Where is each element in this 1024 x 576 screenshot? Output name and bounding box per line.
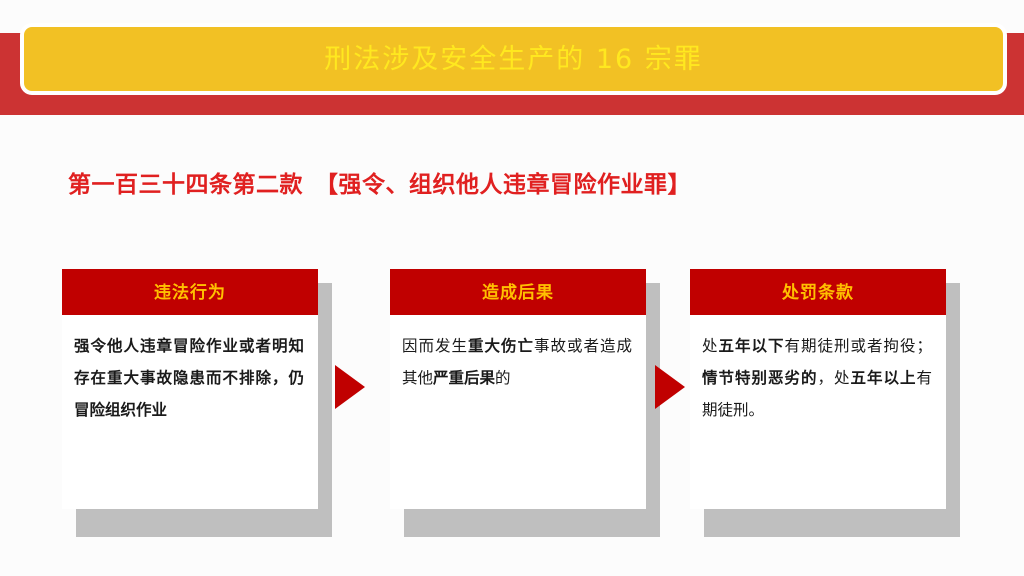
emphasis-text: 严重后果 (433, 370, 495, 387)
emphasis-text: 五年以下 (719, 338, 785, 355)
arrow-right-icon (335, 365, 365, 409)
card-inner: 处罚条款 处五年以下有期徒刑或者拘役；情节特别恶劣的，处五年以上有期徒刑。 (690, 269, 946, 509)
card-body-text: 处五年以下有期徒刑或者拘役；情节特别恶劣的，处五年以上有期徒刑。 (690, 315, 946, 509)
card-header: 违法行为 (62, 269, 318, 315)
emphasis-text: 五年以上 (850, 370, 916, 387)
body-text: 有期徒刑或者拘役； (785, 338, 932, 355)
body-text: 因而发生 (402, 338, 468, 355)
arrow-right-icon (655, 365, 685, 409)
card-header-label: 处罚条款 (782, 284, 854, 301)
emphasis-text: 强令他人违章冒险作业或者明知存在重大事故隐患而不排除，仍冒险组织作业 (74, 338, 304, 419)
body-text: ，处 (817, 370, 850, 387)
card-header: 造成后果 (390, 269, 646, 315)
emphasis-text: 重大伤亡 (468, 338, 534, 355)
body-text: 的 (495, 370, 511, 387)
emphasis-text: 情节特别恶劣的 (702, 370, 817, 387)
card-inner: 违法行为 强令他人违章冒险作业或者明知存在重大事故隐患而不排除，仍冒险组织作业 (62, 269, 318, 509)
cards-row: 违法行为 强令他人违章冒险作业或者明知存在重大事故隐患而不排除，仍冒险组织作业 … (0, 0, 1024, 576)
card-inner: 造成后果 因而发生重大伤亡事故或者造成其他严重后果的 (390, 269, 646, 509)
body-text: 处 (702, 338, 719, 355)
card-body-text: 因而发生重大伤亡事故或者造成其他严重后果的 (390, 315, 646, 509)
card-body-text: 强令他人违章冒险作业或者明知存在重大事故隐患而不排除，仍冒险组织作业 (62, 315, 318, 509)
card-header-label: 违法行为 (154, 284, 226, 301)
card-header: 处罚条款 (690, 269, 946, 315)
card-header-label: 造成后果 (482, 284, 554, 301)
